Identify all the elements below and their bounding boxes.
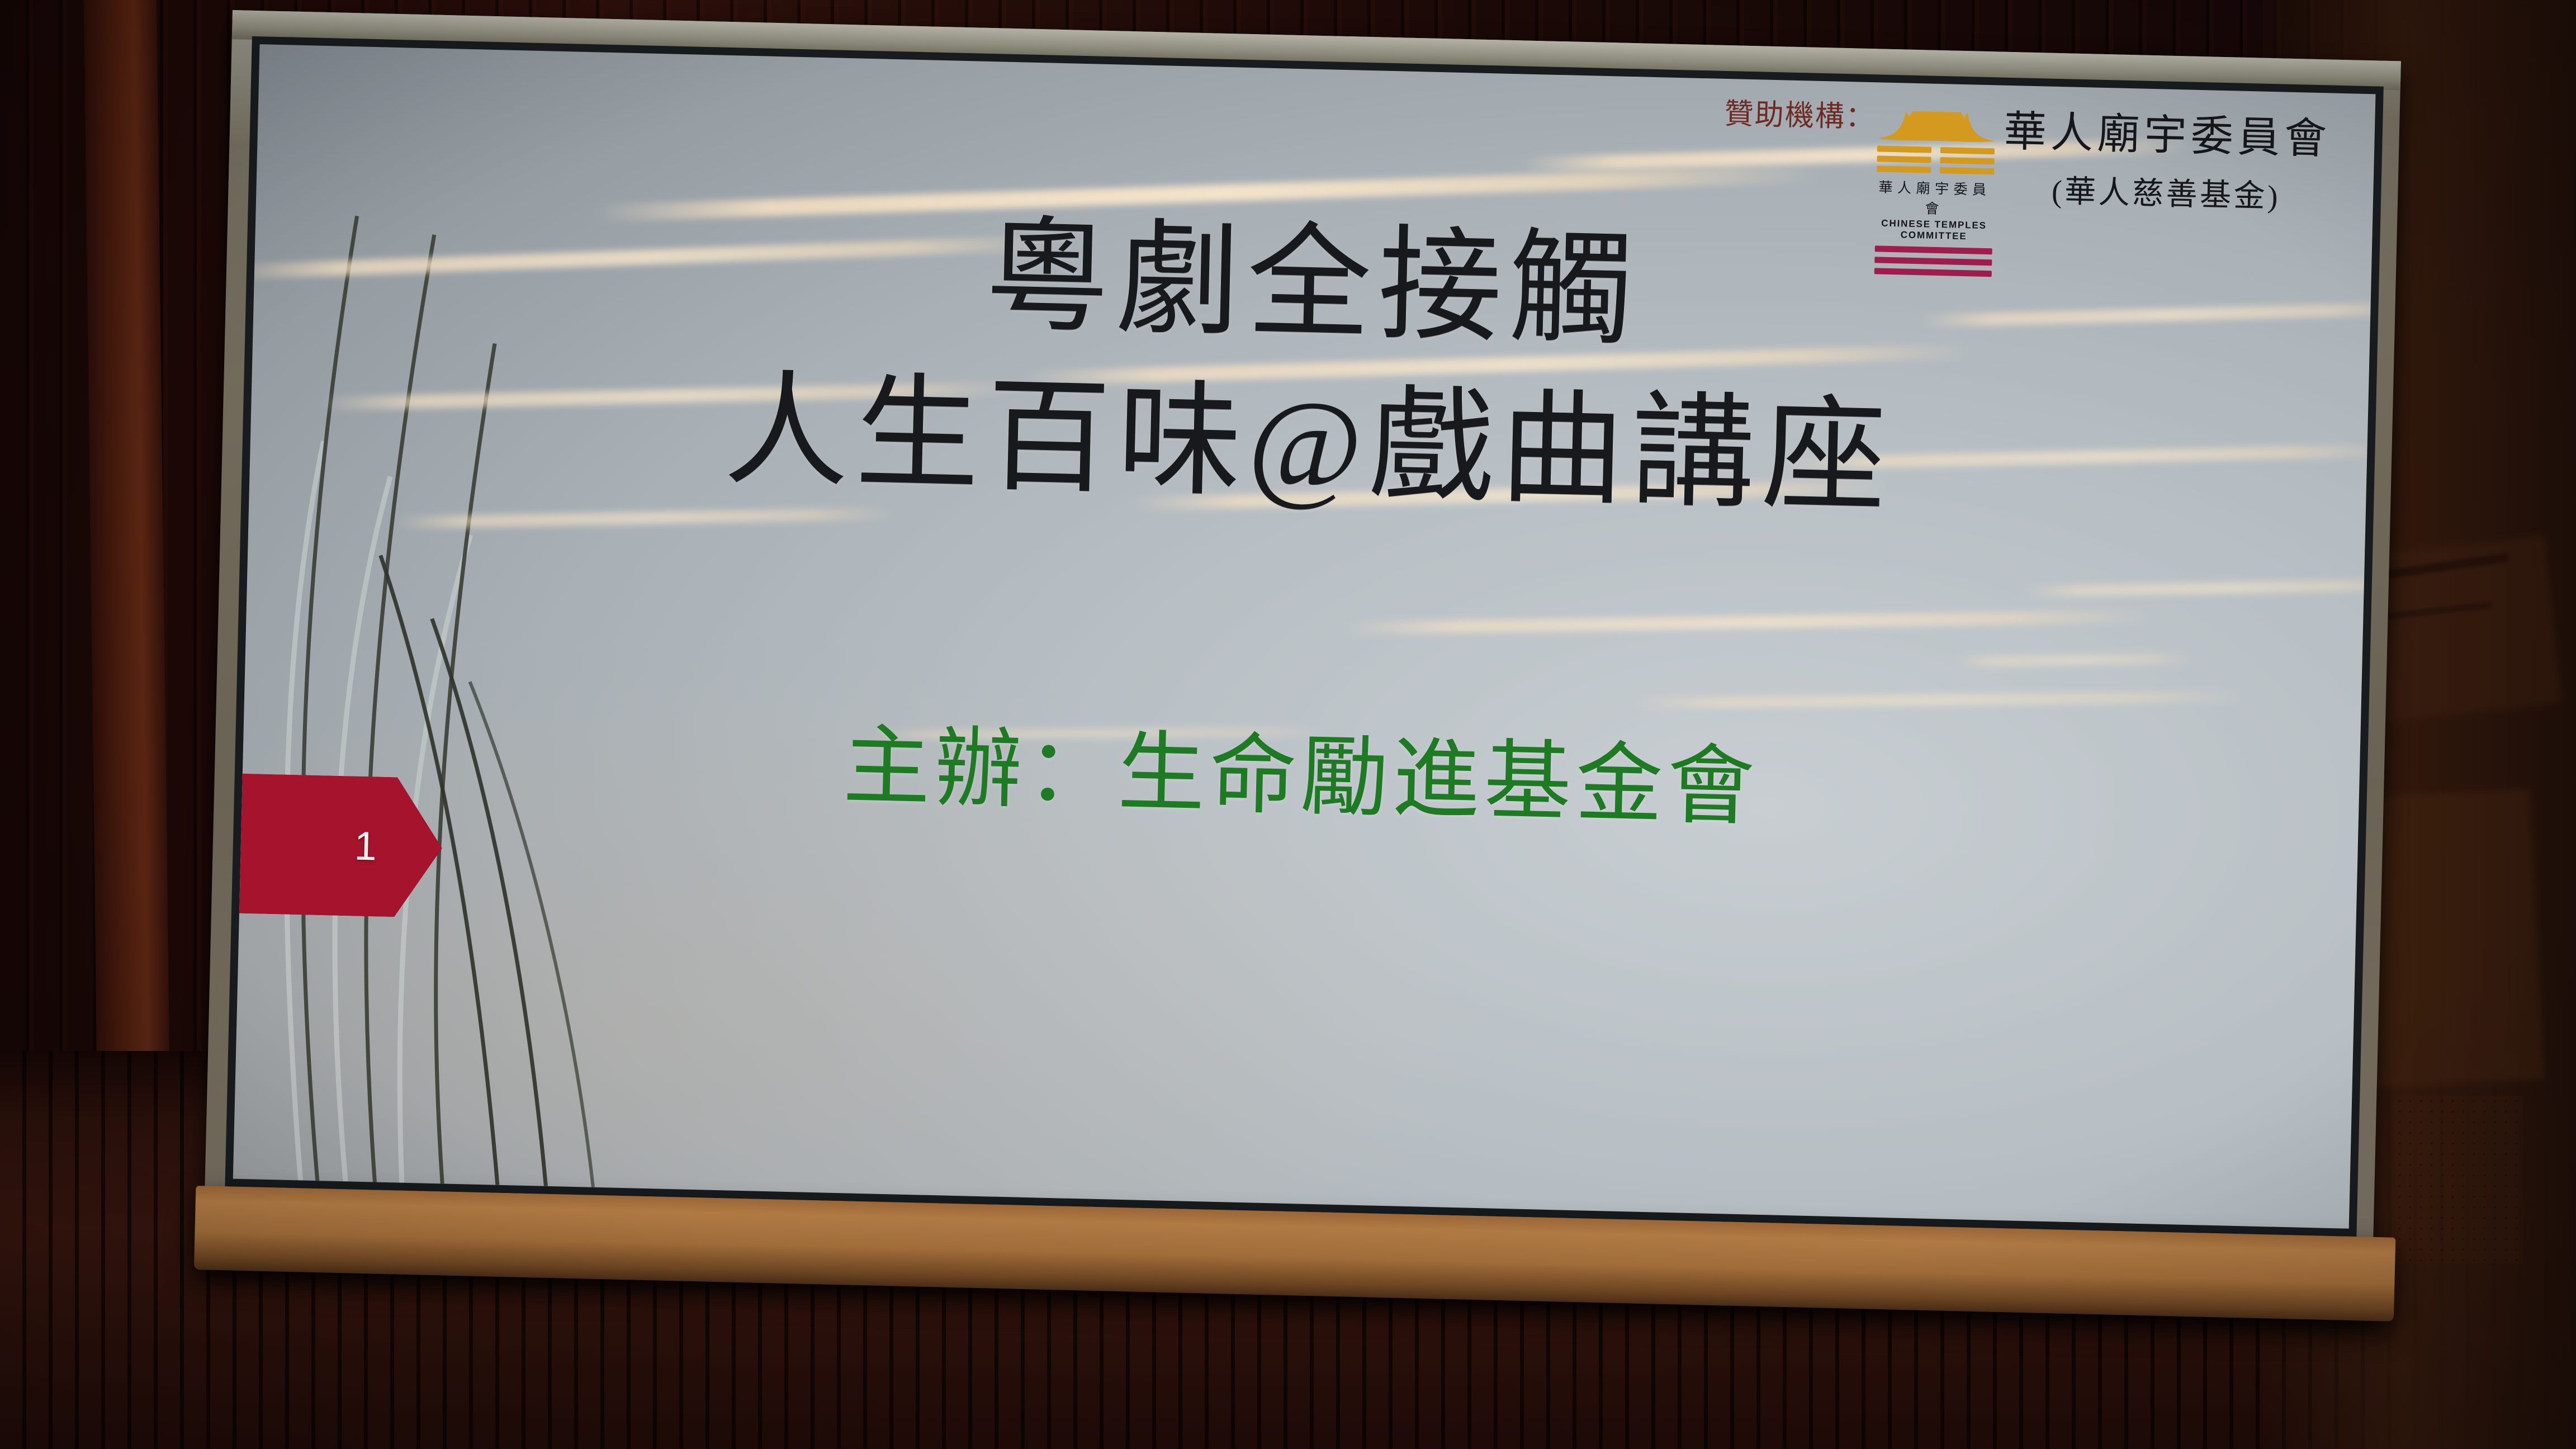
wall-left-pillar [84, 0, 171, 1191]
temple-roof-icon [1877, 107, 1995, 144]
logo-gold-rule-1 [1877, 145, 1995, 154]
sponsor-organisation-subname: (華人慈善基金) [2002, 164, 2330, 217]
logo-chinese-caption: 華人廟宇委員會 [1876, 176, 1994, 219]
slide-canvas: 1 粵劇全接觸 人生百味@戲曲講座 主辦：生命勵進基金會 贊助機構： [233, 44, 2376, 1229]
sponsor-name-group: 華人廟宇委員會 (華人慈善基金) [2002, 109, 2331, 217]
projection-screen-assembly: 1 粵劇全接觸 人生百味@戲曲講座 主辦：生命勵進基金會 贊助機構： [203, 10, 2401, 1313]
chinese-temples-committee-logo: 華人廟宇委員會 CHINESE TEMPLES COMMITTEE [1874, 107, 1995, 282]
sponsor-label: 贊助機構： [1724, 90, 1876, 135]
logo-red-rule-2 [1874, 257, 1992, 266]
logo-gold-rule-2 [1877, 155, 1994, 164]
photograph-of-projected-slide: 1 粵劇全接觸 人生百味@戲曲講座 主辦：生命勵進基金會 贊助機構： [0, 0, 2576, 1449]
room-vent-grille [2394, 1096, 2523, 1263]
logo-gold-rule-3 [1877, 165, 1994, 174]
slide-number: 1 [354, 826, 377, 867]
screen-bezel: 1 粵劇全接觸 人生百味@戲曲講座 主辦：生命勵進基金會 贊助機構： [225, 36, 2383, 1237]
logo-red-rule-1 [1874, 245, 1992, 254]
sponsor-organisation-name: 華人廟宇委員會 [2004, 109, 2332, 163]
logo-red-rule-3 [1874, 268, 1991, 277]
sponsor-block: 贊助機構： 華人廟宇委員會 CHINESE TEMPLES COMMITTEE [1721, 87, 2332, 290]
logo-english-caption: CHINESE TEMPLES COMMITTEE [1875, 217, 1993, 243]
